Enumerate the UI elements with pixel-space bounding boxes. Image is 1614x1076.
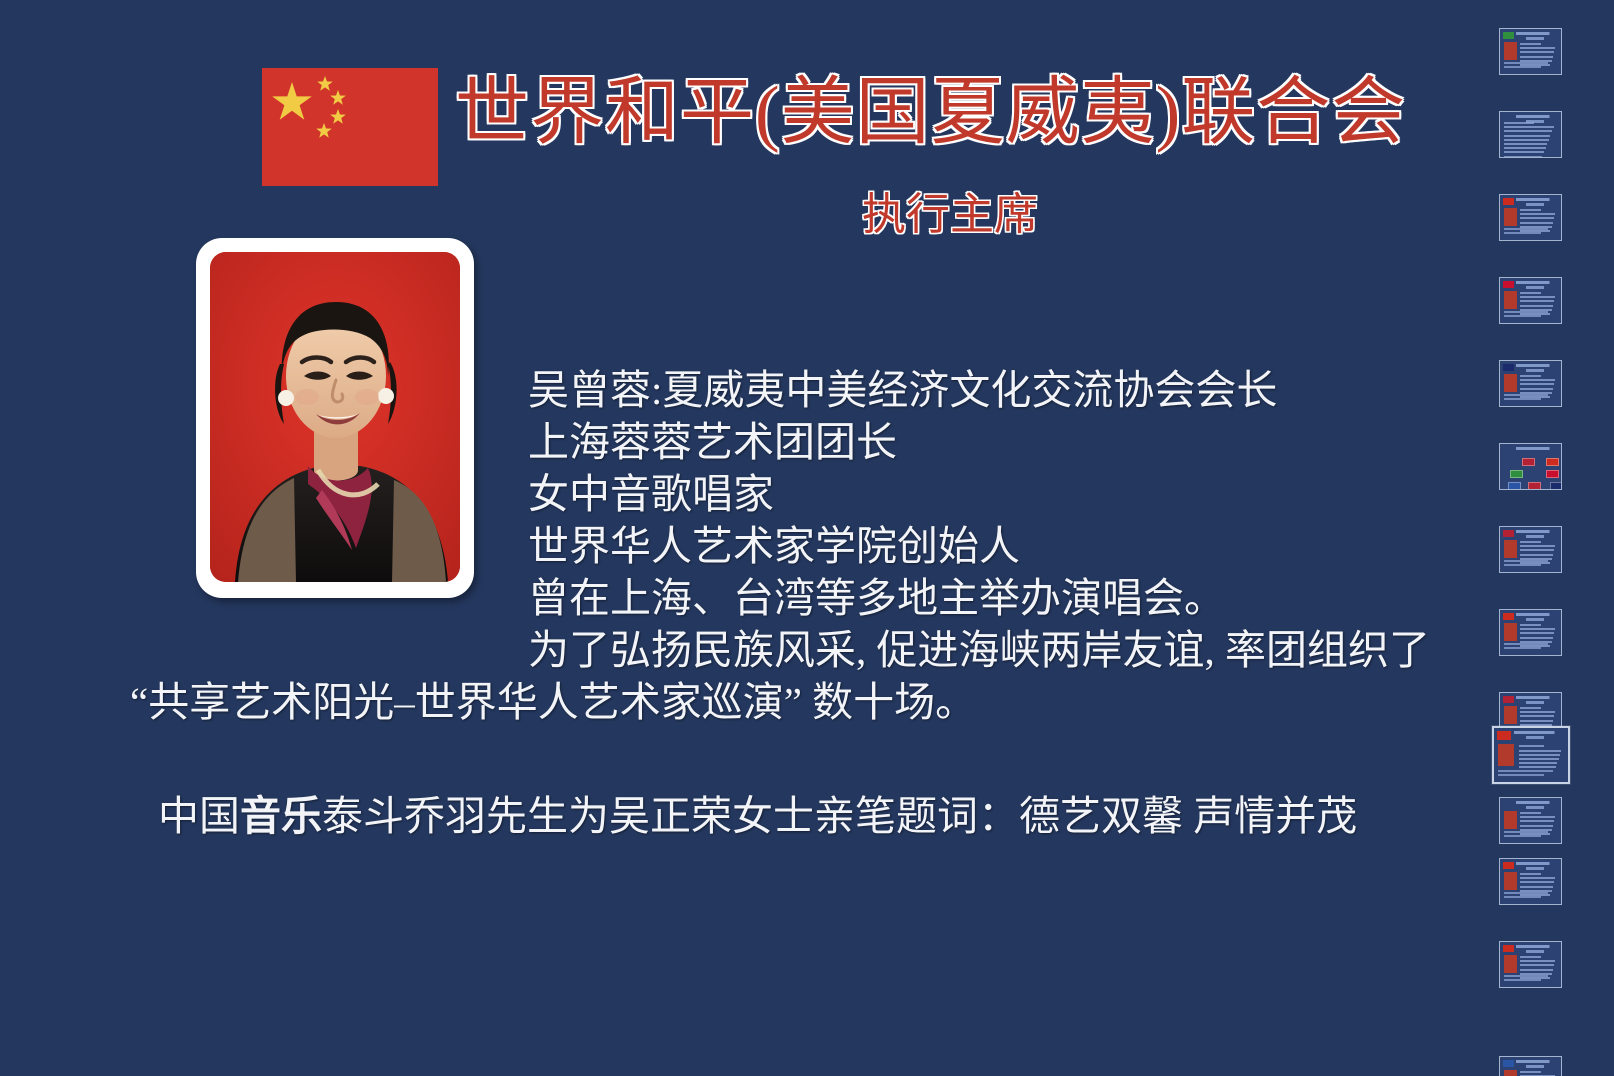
slide-thumb-5[interactable] bbox=[1499, 360, 1562, 407]
thumb-portrait bbox=[1504, 872, 1517, 890]
slide-thumb-3[interactable] bbox=[1499, 194, 1562, 241]
thumb-title-placeholder bbox=[1516, 364, 1559, 367]
thumb-flag-icon bbox=[1546, 458, 1559, 466]
thumb-portrait bbox=[1504, 374, 1517, 392]
thumb-flag-icon bbox=[1503, 1060, 1514, 1067]
thumb-flag-icon bbox=[1503, 945, 1514, 952]
slide-body-text: 吴曾蓉:夏威夷中美经济文化交流协会会长 上海蓉蓉艺术团团长 女中音歌唱家 世界华… bbox=[0, 364, 1480, 728]
closing-bold-part: 音乐 bbox=[240, 793, 322, 839]
thumb-flag-icon bbox=[1522, 458, 1535, 466]
thumb-portrait bbox=[1504, 955, 1517, 973]
thumb-flag-grid bbox=[1506, 458, 1556, 484]
thumb-flag-icon bbox=[1503, 613, 1514, 620]
thumb-portrait bbox=[1504, 623, 1517, 641]
body-line: 曾在上海、台湾等多地主举办演唱会。 bbox=[0, 572, 1480, 624]
thumb-title-placeholder bbox=[1516, 115, 1559, 118]
closing-part-2: 泰斗乔羽先生为吴正荣女士亲笔题词：德艺双馨 声情并茂 bbox=[322, 793, 1357, 839]
thumb-portrait bbox=[1498, 744, 1514, 766]
thumb-title-placeholder bbox=[1516, 281, 1559, 284]
thumb-title-placeholder bbox=[1516, 530, 1559, 533]
thumb-subtitle-placeholder bbox=[1526, 37, 1544, 40]
thumb-portrait bbox=[1504, 811, 1517, 829]
slide-thumbnail-sidebar[interactable]: A-WPF.COM bbox=[1480, 0, 1614, 1076]
thumb-title-placeholder bbox=[1516, 198, 1559, 201]
thumb-subtitle-placeholder bbox=[1526, 867, 1544, 870]
thumb-text-placeholder bbox=[1520, 1071, 1558, 1076]
thumb-title-placeholder bbox=[1514, 731, 1566, 734]
presentation-viewer: 世界和平(美国夏威夷)联合会 执行主席 bbox=[0, 0, 1614, 1076]
thumb-text-placeholder bbox=[1519, 745, 1565, 770]
thumb-footer-placeholder bbox=[1498, 770, 1565, 778]
body-line: 女中音歌唱家 bbox=[0, 468, 1480, 520]
thumb-portrait bbox=[1504, 1070, 1517, 1076]
thumb-title-placeholder bbox=[1516, 447, 1559, 450]
thumb-footer-placeholder bbox=[1504, 892, 1558, 900]
slide-thumb-2[interactable] bbox=[1499, 111, 1562, 158]
thumb-subtitle-placeholder bbox=[1526, 806, 1544, 809]
thumb-title-placeholder bbox=[1516, 862, 1559, 865]
slide-thumb-11[interactable] bbox=[1499, 797, 1562, 844]
thumb-flag-icon bbox=[1508, 482, 1521, 490]
thumb-portrait bbox=[1504, 208, 1517, 226]
thumb-flag-icon bbox=[1503, 32, 1514, 39]
thumb-footer-placeholder bbox=[1504, 62, 1558, 70]
thumb-subtitle-placeholder bbox=[1526, 369, 1544, 372]
thumb-title-placeholder bbox=[1516, 801, 1559, 804]
thumb-footer-placeholder bbox=[1504, 311, 1558, 319]
thumb-flag-icon bbox=[1503, 530, 1514, 537]
thumb-flag-icon bbox=[1503, 364, 1514, 371]
thumb-subtitle-placeholder bbox=[1526, 950, 1544, 953]
thumb-footer-placeholder bbox=[1504, 975, 1558, 983]
thumb-flag-icon bbox=[1503, 198, 1514, 205]
slide-header: 世界和平(美国夏威夷)联合会 执行主席 bbox=[0, 58, 1480, 198]
thumb-title-placeholder bbox=[1516, 696, 1559, 699]
body-line: 吴曾蓉:夏威夷中美经济文化交流协会会长 bbox=[0, 364, 1480, 416]
closing-part-1: 中国 bbox=[158, 793, 240, 839]
thumb-footer-placeholder bbox=[1504, 643, 1558, 651]
thumb-portrait bbox=[1504, 540, 1517, 558]
thumb-footer-placeholder bbox=[1504, 228, 1558, 236]
thumb-footer-placeholder bbox=[1504, 831, 1558, 839]
slide-thumb-6[interactable] bbox=[1499, 443, 1562, 490]
thumb-subtitle-placeholder bbox=[1526, 1065, 1544, 1068]
thumb-portrait bbox=[1504, 291, 1517, 309]
thumb-title-placeholder bbox=[1516, 1060, 1559, 1063]
body-line: “共享艺术阳光–世界华人艺术家巡演” 数十场。 bbox=[0, 676, 1480, 728]
slide-thumb-4[interactable] bbox=[1499, 277, 1562, 324]
thumb-flag-icon bbox=[1503, 696, 1514, 703]
thumb-portrait bbox=[1504, 706, 1517, 724]
thumb-flag-icon bbox=[1503, 281, 1514, 288]
slide-thumb-7[interactable] bbox=[1499, 526, 1562, 573]
thumb-subtitle-placeholder bbox=[1526, 286, 1544, 289]
thumb-subtitle-placeholder bbox=[1526, 203, 1544, 206]
body-line: 上海蓉蓉艺术团团长 bbox=[0, 416, 1480, 468]
slide-canvas[interactable]: 世界和平(美国夏威夷)联合会 执行主席 bbox=[0, 0, 1480, 1076]
china-flag-icon bbox=[262, 68, 438, 186]
thumb-flag-icon bbox=[1503, 862, 1514, 869]
thumb-text-placeholder bbox=[1504, 122, 1558, 158]
thumb-flag-icon bbox=[1546, 470, 1559, 478]
thumb-subtitle-placeholder bbox=[1526, 618, 1544, 621]
thumb-title-placeholder bbox=[1516, 613, 1559, 616]
thumb-flag-icon bbox=[1550, 482, 1562, 490]
thumb-subtitle-placeholder bbox=[1526, 535, 1544, 538]
thumb-title-placeholder bbox=[1516, 945, 1559, 948]
body-line: 世界华人艺术家学院创始人 bbox=[0, 520, 1480, 572]
thumb-flag-icon bbox=[1528, 482, 1541, 490]
page-title: 世界和平(美国夏威夷)联合会 bbox=[455, 58, 1445, 168]
slide-thumb-14[interactable] bbox=[1499, 1056, 1562, 1076]
closing-inscription: 中国音乐泰斗乔羽先生为吴正荣女士亲笔题词：德艺双馨 声情并茂 bbox=[0, 789, 1480, 843]
page-subtitle: 执行主席 bbox=[455, 189, 1445, 241]
thumb-subtitle-placeholder bbox=[1526, 701, 1544, 704]
thumb-flag-icon bbox=[1497, 731, 1511, 740]
thumb-flag-icon bbox=[1510, 470, 1523, 478]
slide-thumb-12[interactable] bbox=[1499, 858, 1562, 905]
thumb-footer-placeholder bbox=[1504, 394, 1558, 402]
thumb-subtitle-placeholder bbox=[1526, 736, 1544, 739]
slide-thumb-13[interactable] bbox=[1499, 941, 1562, 988]
thumb-footer-placeholder bbox=[1504, 560, 1558, 568]
thumb-title-placeholder bbox=[1516, 32, 1559, 35]
slide-thumb-8[interactable] bbox=[1499, 609, 1562, 656]
body-line: 为了弘扬民族风采, 促进海峡两岸友谊, 率团组织了 bbox=[0, 624, 1480, 676]
thumb-portrait bbox=[1504, 42, 1517, 60]
slide-thumb-1[interactable] bbox=[1499, 28, 1562, 75]
slide-thumb-10[interactable] bbox=[1492, 726, 1570, 784]
